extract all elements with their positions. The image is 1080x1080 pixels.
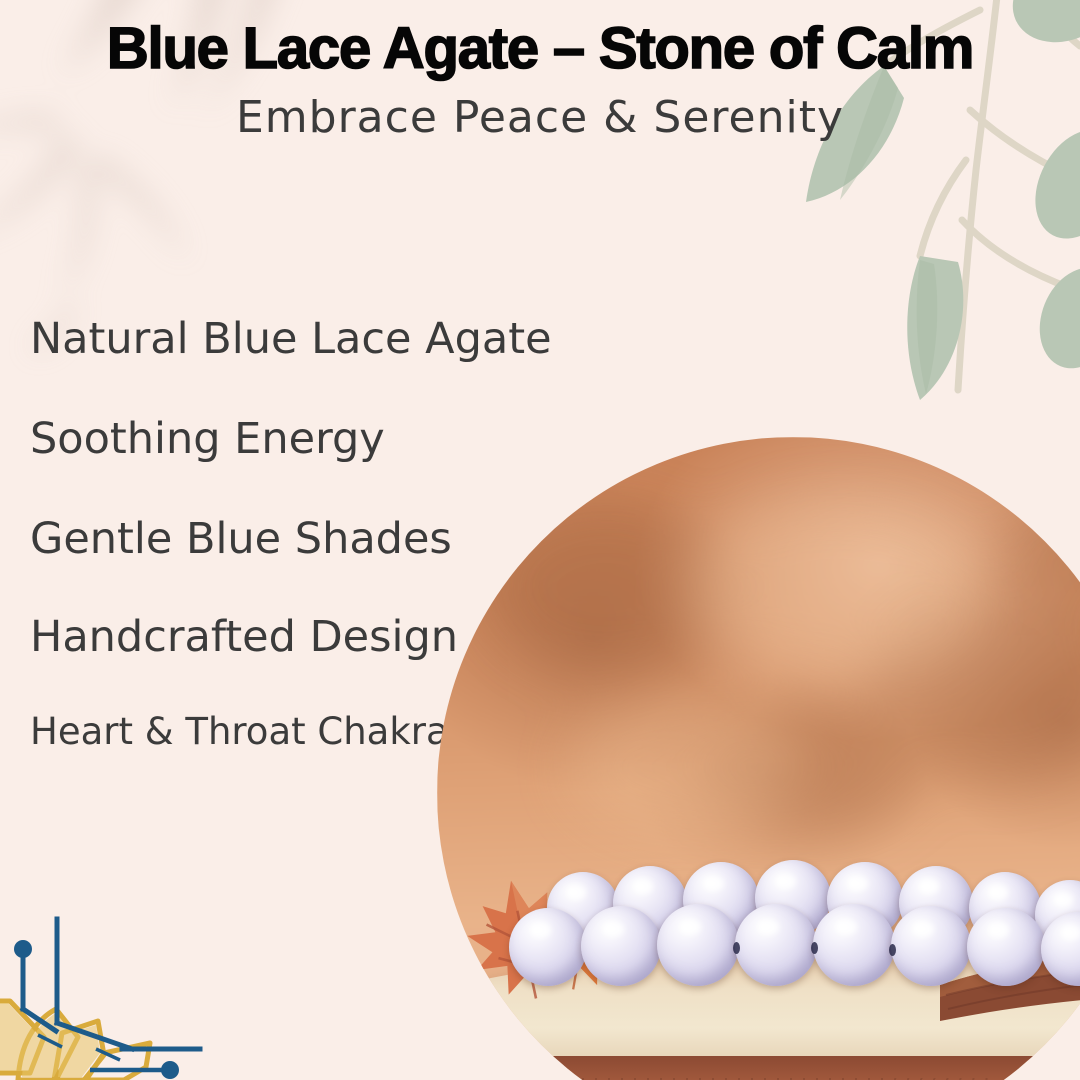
agate-bracelet <box>437 860 1080 1010</box>
feature-item: Natural Blue Lace Agate <box>30 318 550 361</box>
product-photo <box>437 437 1080 1080</box>
podium-base <box>437 1056 1080 1080</box>
page-subtitle: Embrace Peace & Serenity <box>0 96 1080 140</box>
product-card: Blue Lace Agate – Stone of Calm Embrace … <box>0 0 1080 1080</box>
page-title: Blue Lace Agate – Stone of Calm <box>0 20 1080 78</box>
art-deco-corner-ornament <box>0 905 220 1080</box>
